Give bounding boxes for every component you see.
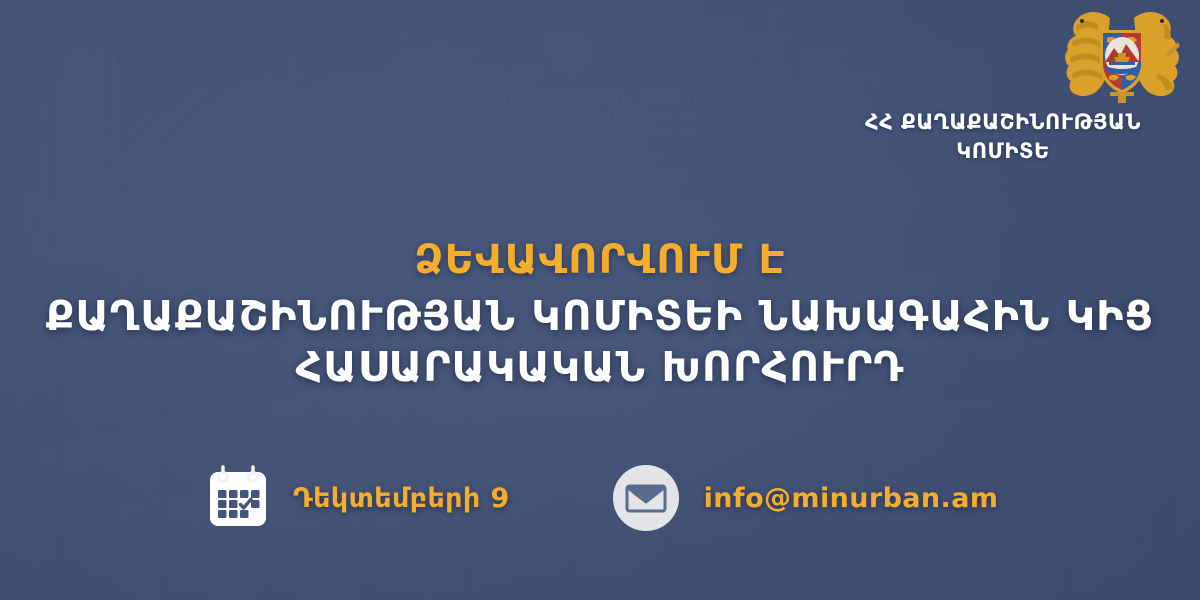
- armenian-coat-of-arms-icon: [1062, 4, 1182, 104]
- calendar-icon: [203, 463, 273, 533]
- headline-block: ՁԵՎԱՎՈՐՎՈՒՄ Է ՔԱՂԱՔԱՇԻՆՈՒԹՅԱՆ ԿՈՄԻՏԵԻ ՆԱ…: [0, 238, 1200, 394]
- organization-title-line2: ԿՈՄԻՏԵ: [828, 137, 1178, 166]
- event-date-text: Դեկտեմբերի 9: [293, 483, 510, 514]
- info-row: Դեկտեմբերի 9 info@minurban.am: [0, 462, 1200, 534]
- organization-title-line1: ՀՀ ՔԱՂԱՔԱՇԻՆՈՒԹՅԱՆ: [828, 108, 1178, 137]
- contact-email-item[interactable]: info@minurban.am: [610, 462, 999, 534]
- envelope-icon[interactable]: [610, 462, 682, 534]
- contact-email-text[interactable]: info@minurban.am: [704, 483, 999, 514]
- event-announcement-banner: ՀՀ ՔԱՂԱՔԱՇԻՆՈՒԹՅԱՆ ԿՈՄԻՏԵ КОМИТЕТ ПО ГРА…: [0, 0, 1200, 600]
- headline-line-2: ՔԱՂԱՔԱՇԻՆՈՒԹՅԱՆ ԿՈՄԻՏԵԻ ՆԱԽԱԳԱՀԻՆ ԿԻՑ: [0, 291, 1200, 343]
- headline-line-3: ՀԱՍԱՐԱԿԱԿԱՆ ԽՈՐՀՈՒՐԴ: [0, 342, 1200, 394]
- headline-line-1: ՁԵՎԱՎՈՐՎՈՒՄ Է: [0, 238, 1200, 283]
- organization-title: ՀՀ ՔԱՂԱՔԱՇԻՆՈՒԹՅԱՆ ԿՈՄԻՏԵ: [828, 108, 1178, 165]
- banner-content: ՀՀ ՔԱՂԱՔԱՇԻՆՈՒԹՅԱՆ ԿՈՄԻՏԵ ՁԵՎԱՎՈՐՎՈՒՄ Է …: [0, 0, 1200, 600]
- event-date-item: Դեկտեմբերի 9: [203, 463, 510, 533]
